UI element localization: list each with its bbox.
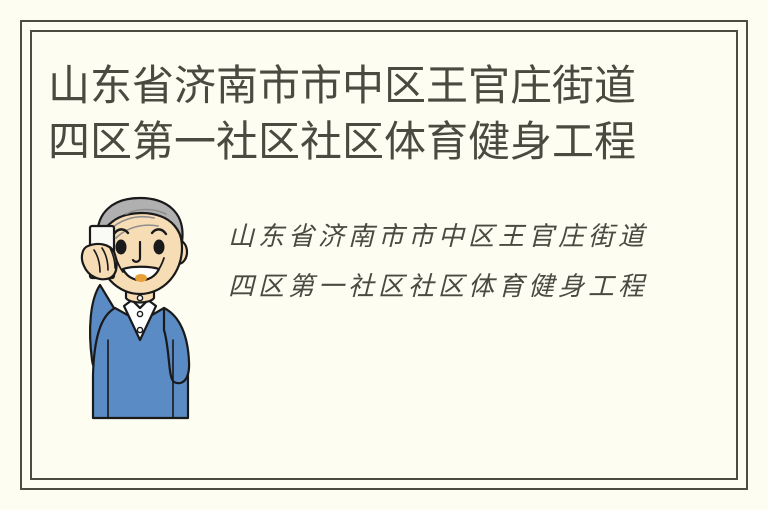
headline-line-2: 四区第一社区社区体育健身工程: [48, 114, 648, 170]
shirt-button-2: [137, 311, 142, 316]
headline-line-1: 山东省济南市市中区王官庄街道: [48, 58, 648, 114]
shirt-button-3: [137, 327, 142, 332]
content-row: 山东省济南市市中区王官庄街道 四区第一社区社区体育健身工程: [48, 190, 708, 440]
subtext-line-1: 山东省济南市市中区王官庄街道: [228, 212, 698, 262]
tongue: [135, 274, 147, 282]
subtext-block: 山东省济南市市中区王官庄街道 四区第一社区社区体育健身工程: [228, 212, 698, 312]
poster-root: 山东省济南市市中区王官庄街道 四区第一社区社区体育健身工程: [0, 0, 768, 510]
headline-block: 山东省济南市市中区王官庄街道 四区第一社区社区体育健身工程: [48, 58, 648, 170]
elderly-man-illustration: [60, 190, 210, 430]
shirt-button-1: [137, 295, 142, 300]
subtext-line-2: 四区第一社区社区体育健身工程: [228, 262, 698, 312]
left-eye: [116, 240, 127, 255]
right-eye: [154, 240, 165, 255]
